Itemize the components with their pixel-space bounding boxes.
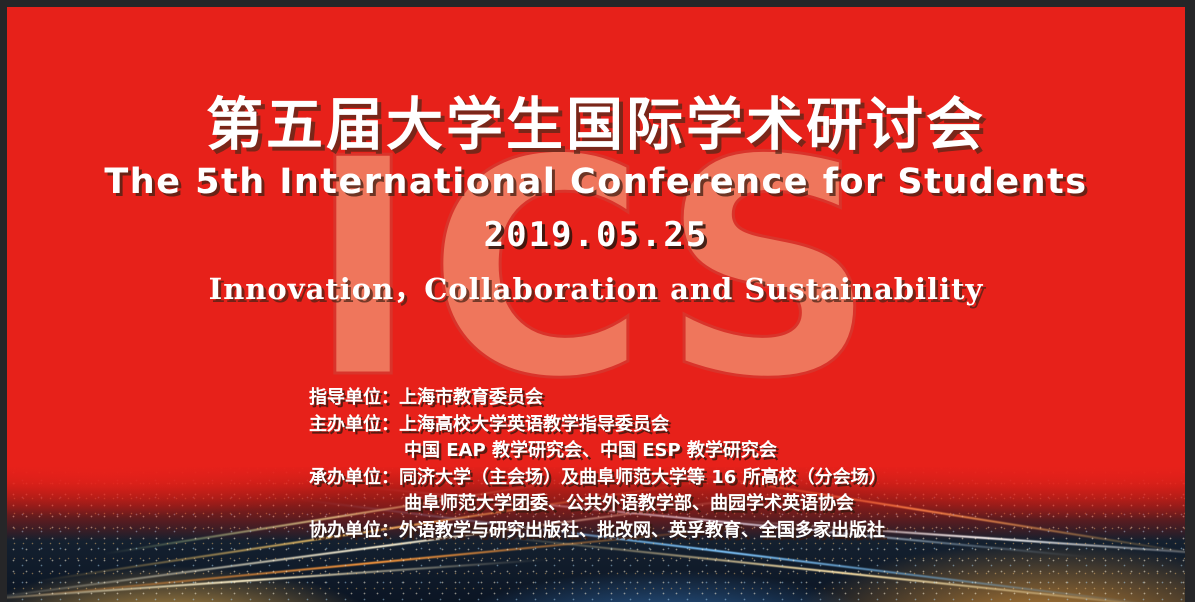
chinese-conference-title: 第五届大学生国际学术研讨会 — [7, 95, 1185, 155]
conference-banner: ICS 第五届大学生国际学术研讨会 The 5th Internat — [0, 0, 1195, 602]
credit-line-organizer: 承办单位：同济大学（主会场）及曲阜师范大学等 16 所高校（分会场） — [309, 465, 887, 492]
organizer-credits-block: 指导单位：上海市教育委员会 主办单位：上海高校大学英语教学指导委员会 中国 EA… — [309, 385, 887, 544]
banner-text-content: 第五届大学生国际学术研讨会 The 5th International Conf… — [7, 7, 1185, 602]
credit-line-host-cont: 中国 EAP 教学研究会、中国 ESP 教学研究会 — [309, 438, 887, 465]
conference-theme: Innovation，Collaboration and Sustainabil… — [7, 271, 1185, 307]
banner-red-stage: ICS 第五届大学生国际学术研讨会 The 5th Internat — [7, 7, 1185, 602]
credit-line-coorganizer: 协办单位：外语教学与研究出版社、批改网、英孚教育、全国多家出版社 — [309, 518, 887, 545]
conference-date: 2019.05.25 — [7, 215, 1185, 255]
english-conference-title: The 5th International Conference for Stu… — [7, 162, 1185, 202]
credit-line-guidance: 指导单位：上海市教育委员会 — [309, 385, 887, 412]
credit-line-organizer-cont: 曲阜师范大学团委、公共外语教学部、曲园学术英语协会 — [309, 491, 887, 518]
credit-line-host: 主办单位：上海高校大学英语教学指导委员会 — [309, 412, 887, 439]
